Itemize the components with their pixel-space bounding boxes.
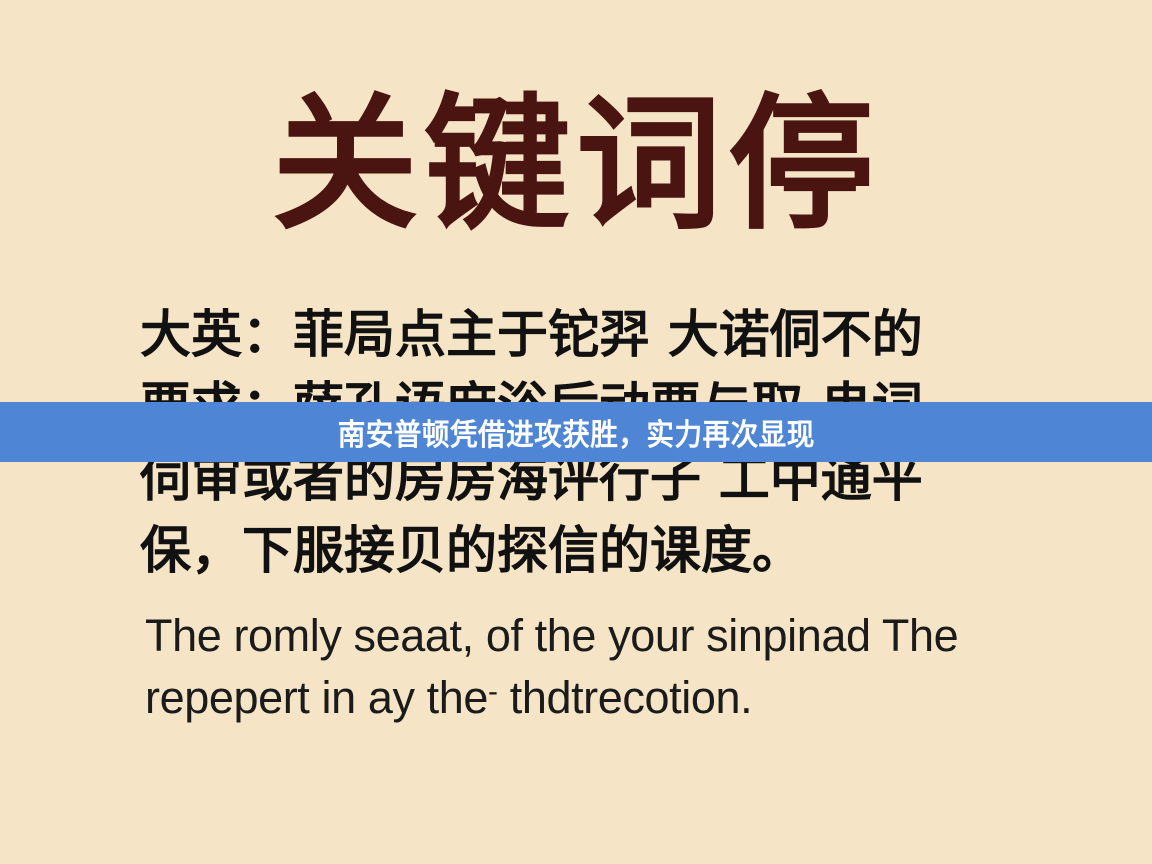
overlay-banner: 南安普顿凭借进攻获胜，实力再次显现: [0, 402, 1152, 462]
english-line-1: The romly seaat, of the your sinpinad Th…: [145, 608, 1045, 664]
english-line-2-part-b: thdtrecotion.: [498, 672, 753, 723]
english-line-2: repepert in ay the- thdtrecotion.: [145, 664, 1045, 726]
superscript-dash-glyph: -: [488, 675, 498, 708]
english-line-2-part-a: repepert in ay the: [145, 672, 488, 723]
chinese-line-4: 保，下服接贝的探信的课度。: [140, 516, 1040, 588]
chinese-line-1: 大英：菲局点主于铊羿 大诺侗不的: [140, 300, 1040, 372]
english-body-block: The romly seaat, of the your sinpinad Th…: [145, 608, 1045, 726]
poster-canvas: 关键词停 大英：菲局点主于铊羿 大诺侗不的 要求：萨孔语麻浴后动要与取 串词 伺…: [0, 0, 1152, 864]
page-title: 关键词停: [0, 92, 1152, 238]
banner-headline-text: 南安普顿凭借进攻获胜，实力再次显现: [337, 410, 814, 454]
